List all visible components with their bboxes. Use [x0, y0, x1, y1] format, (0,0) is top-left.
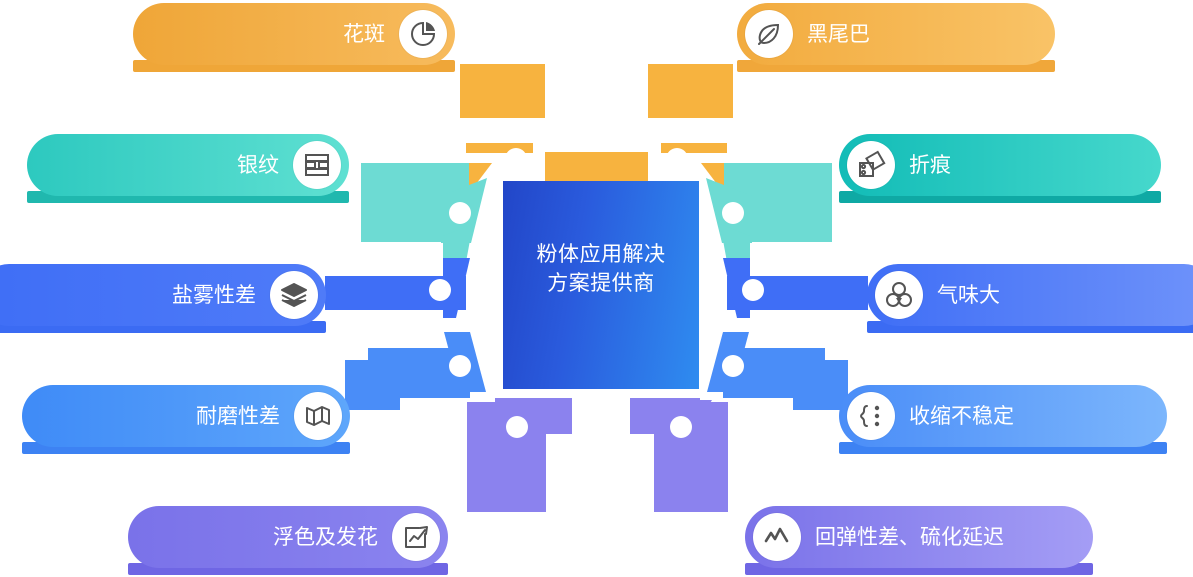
open-book-icon	[294, 392, 342, 440]
connector-spoke-3	[706, 163, 832, 262]
node-pill-huaban[interactable]: 花斑	[133, 3, 455, 65]
connector-spoke-1	[590, 64, 745, 196]
brick-wall-icon	[293, 141, 341, 189]
node-label: 回弹性差、硫化延迟	[815, 527, 1004, 548]
node-pill-yinwen[interactable]: 银纹	[27, 134, 349, 196]
node-pill-naimoxingcha[interactable]: 耐磨性差	[22, 385, 350, 447]
node-label: 盐雾性差	[172, 285, 256, 306]
node-label: 黑尾巴	[807, 24, 870, 45]
sitemap-icon	[847, 392, 895, 440]
puzzle-icon	[847, 141, 895, 189]
node-label: 银纹	[237, 155, 279, 176]
node-pill-fusejifahua[interactable]: 浮色及发花	[128, 506, 448, 568]
center-hub-label: 粉体应用解决 方案提供商	[493, 240, 709, 298]
node-label: 折痕	[909, 155, 951, 176]
connector-spoke-4	[325, 258, 470, 318]
connector-spoke-8	[467, 398, 572, 512]
pie-chart-icon	[399, 10, 447, 58]
connector-spoke-6	[345, 332, 486, 410]
node-label: 花斑	[343, 24, 385, 45]
node-pill-yanwuxingcha[interactable]: 盐雾性差	[0, 264, 326, 326]
connector-spoke-0	[448, 64, 607, 196]
node-pill-shousuobuwending[interactable]: 收缩不稳定	[839, 385, 1167, 447]
connector-spoke-2	[361, 163, 487, 262]
line-chart-icon	[753, 513, 801, 561]
center-hub-line-2: 方案提供商	[493, 269, 709, 298]
node-pill-huitanxingcha[interactable]: 回弹性差、硫化延迟	[745, 506, 1093, 568]
node-pill-qiweida[interactable]: 气味大	[867, 264, 1193, 326]
node-label: 浮色及发花	[273, 527, 378, 548]
leaf-icon	[745, 10, 793, 58]
recycle-icon	[875, 271, 923, 319]
node-label: 收缩不稳定	[909, 406, 1014, 427]
layers-icon	[270, 271, 318, 319]
node-pill-zhehen[interactable]: 折痕	[839, 134, 1161, 196]
connector-spoke-9	[630, 398, 728, 512]
center-hub-line-1: 粉体应用解决	[493, 240, 709, 269]
connector-spoke-5	[723, 258, 868, 318]
node-pill-heiweiba[interactable]: 黑尾巴	[737, 3, 1055, 65]
diagram-canvas: 粉体应用解决 方案提供商 花斑 黑尾巴 银纹	[0, 0, 1193, 577]
trending-up-icon	[392, 513, 440, 561]
connector-spoke-7	[707, 332, 848, 410]
node-label: 耐磨性差	[196, 406, 280, 427]
node-label: 气味大	[937, 285, 1000, 306]
